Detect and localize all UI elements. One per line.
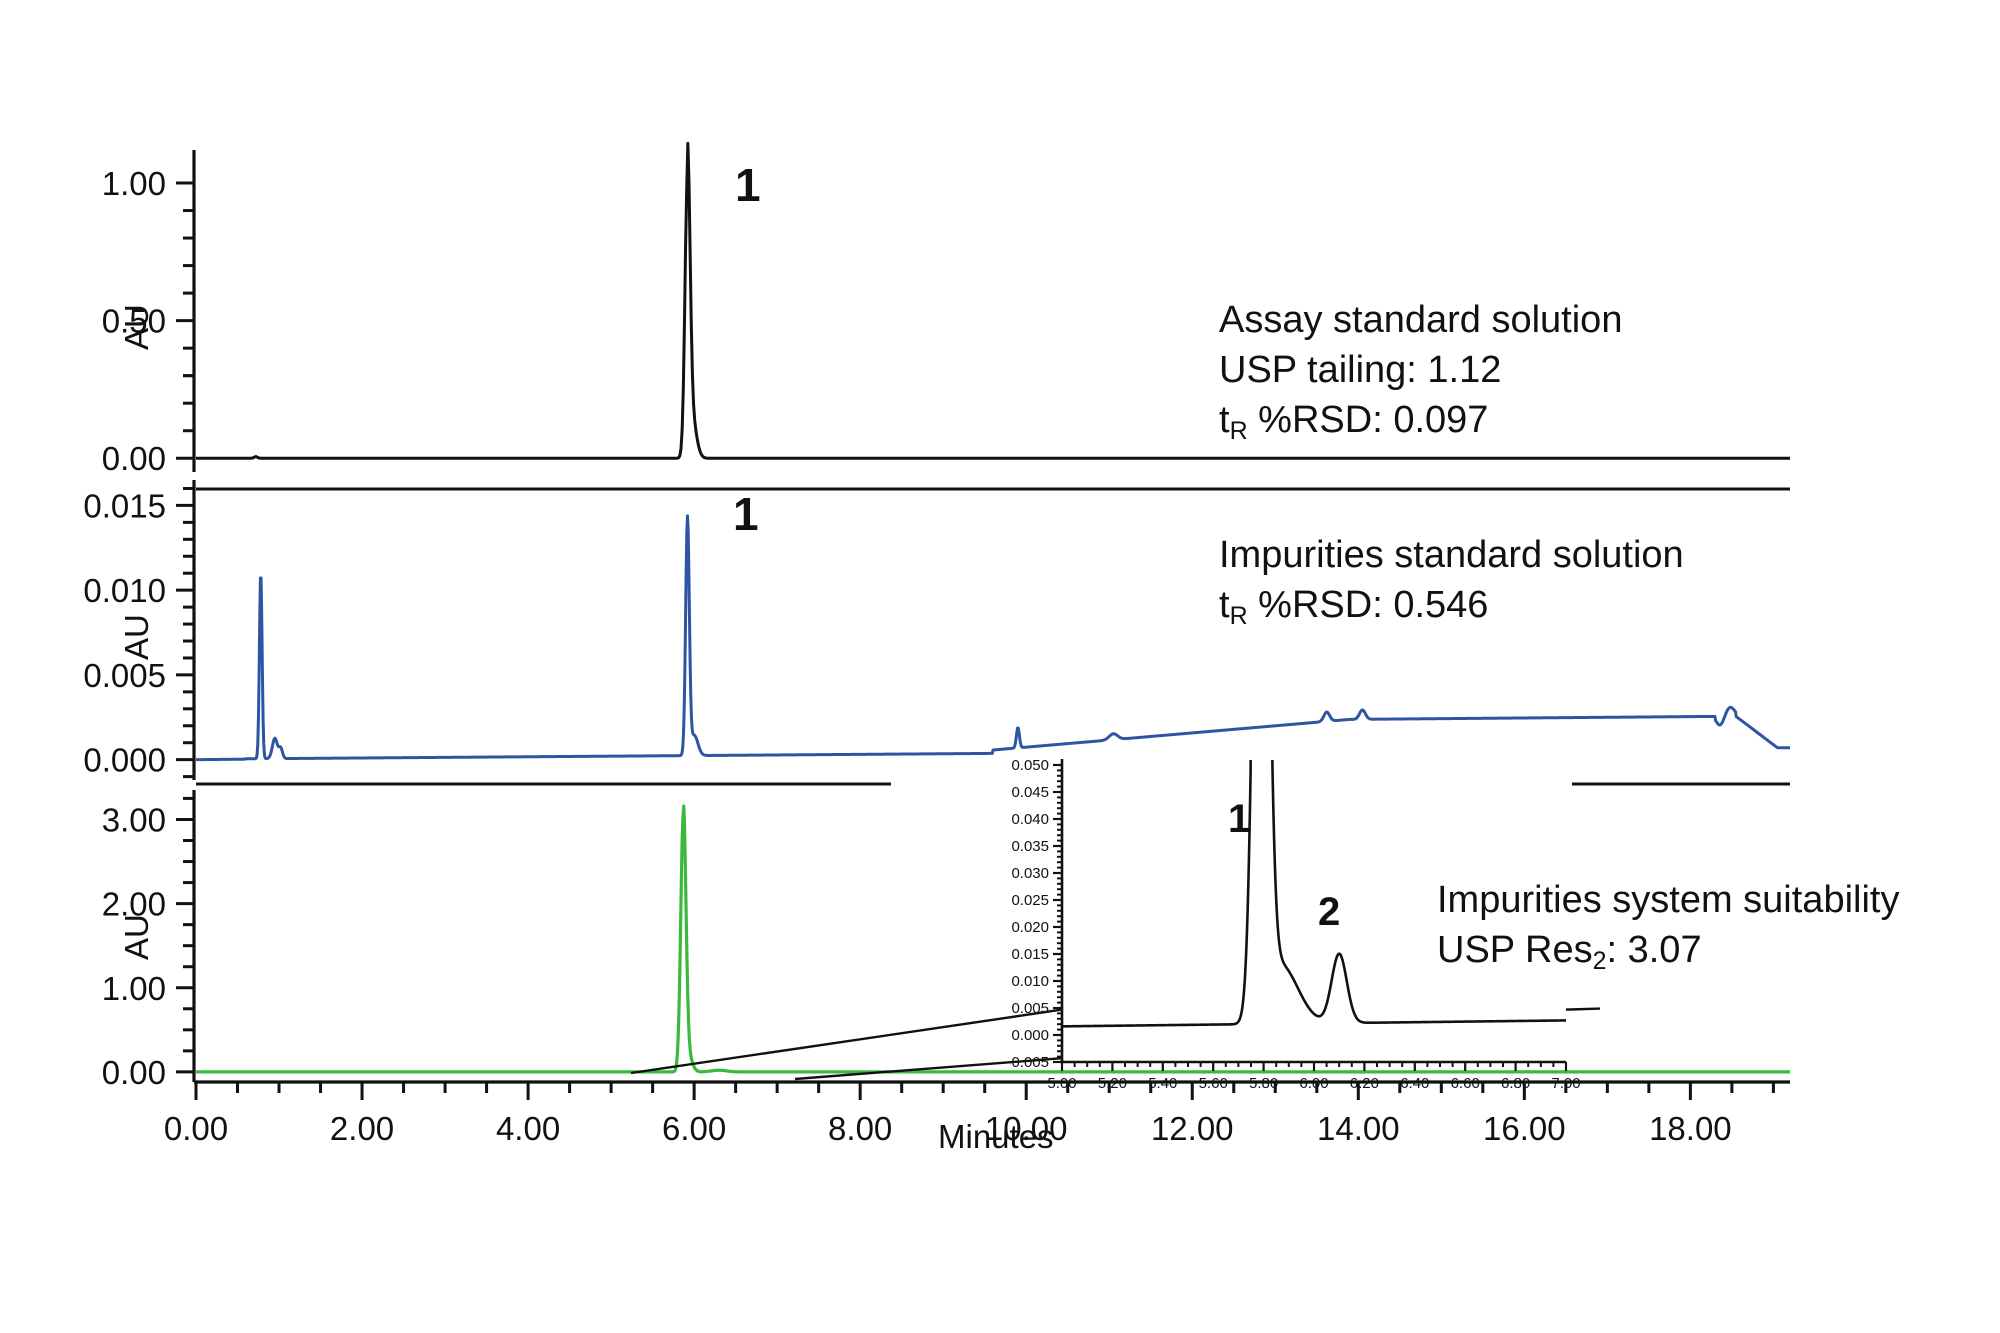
x-tick-label: 18.00 xyxy=(1649,1110,1732,1147)
panel3-y-tick-label: 3.00 xyxy=(102,801,166,838)
panel1-peak-label-1: 1 xyxy=(735,158,761,212)
panel2-y-tick-label: 0.000 xyxy=(83,742,166,779)
panel3-y-tick-label: 0.00 xyxy=(102,1054,166,1091)
inset-y-tick-label: 0.015 xyxy=(1011,946,1049,963)
panel2-annotation-line-2: tR %RSD: 0.546 xyxy=(1219,580,1488,641)
panel3-res-post: : 3.07 xyxy=(1607,929,1702,971)
panel3-y-tick-label: 1.00 xyxy=(102,970,166,1007)
panel1-annotation-line-1: Assay standard solution xyxy=(1219,295,1622,345)
panel1-y-tick-label: 1.00 xyxy=(102,165,166,202)
panel1-tr-post: %RSD: 0.097 xyxy=(1248,399,1489,441)
panel1-y-axis-label: AU xyxy=(118,304,156,350)
inset-x-tick-label: 5.40 xyxy=(1148,1075,1177,1092)
panel2-peak-label-1: 1 xyxy=(733,487,759,541)
panel2-y-tick-label: 0.010 xyxy=(83,572,166,609)
panel2-annotation-line-1: Impurities standard solution xyxy=(1219,530,1684,580)
panel2-tr-sub: R xyxy=(1230,602,1248,630)
inset-y-tick-label: 0.025 xyxy=(1011,892,1049,909)
x-tick-label: 12.00 xyxy=(1151,1110,1234,1147)
panel3-res-pre: USP Res xyxy=(1437,929,1593,971)
x-tick-label: 14.00 xyxy=(1317,1110,1400,1147)
panel1-tr-pre: t xyxy=(1219,399,1230,441)
x-tick-label: 6.00 xyxy=(662,1110,726,1147)
inset-y-tick-label: 0.020 xyxy=(1011,919,1049,936)
x-axis-label: Minutes xyxy=(938,1118,1054,1156)
x-tick-label: 16.00 xyxy=(1483,1110,1566,1147)
panel3-annotation-line-1: Impurities system suitability xyxy=(1437,875,1899,925)
panel3-y-axis-label: AU xyxy=(118,914,156,960)
inset-x-tick-label: 5.00 xyxy=(1047,1075,1076,1092)
chromatogram-figure: 0.000.501.000.0000.0050.0100.0150.001.00… xyxy=(0,0,2000,1333)
inset-x-tick-label: 6.60 xyxy=(1451,1075,1480,1092)
inset-y-tick-label: -0.005 xyxy=(1006,1054,1049,1071)
panel2-y-tick-label: 0.015 xyxy=(83,487,166,524)
x-tick-label: 2.00 xyxy=(330,1110,394,1147)
inset-x-tick-label: 5.80 xyxy=(1249,1075,1278,1092)
panel3-res-sub: 2 xyxy=(1593,947,1607,975)
inset-y-tick-label: 0.010 xyxy=(1011,973,1049,990)
inset-y-tick-label: 0.005 xyxy=(1011,1000,1049,1017)
inset-y-tick-label: 0.000 xyxy=(1011,1027,1049,1044)
inset-peak-label-1: 1 xyxy=(1228,797,1250,842)
inset-x-tick-label: 7.00 xyxy=(1551,1075,1580,1092)
inset-x-tick-label: 6.80 xyxy=(1501,1075,1530,1092)
x-tick-label: 8.00 xyxy=(828,1110,892,1147)
inset-x-tick-label: 6.20 xyxy=(1350,1075,1379,1092)
inset-y-tick-label: 0.045 xyxy=(1011,784,1049,801)
panel1-annotation-line-2: USP tailing: 1.12 xyxy=(1219,345,1501,395)
inset-x-tick-label: 5.60 xyxy=(1199,1075,1228,1092)
panel3-annotation-line-2: USP Res2: 3.07 xyxy=(1437,925,1702,986)
panel2-tr-pre: t xyxy=(1219,584,1230,626)
panel2-y-axis-label: AU xyxy=(118,614,156,660)
inset-x-tick-label: 6.00 xyxy=(1299,1075,1328,1092)
panel1-tr-sub: R xyxy=(1230,417,1248,445)
inset-leader-line-top-right xyxy=(1566,1009,1600,1010)
inset-y-tick-label: 0.040 xyxy=(1011,811,1049,828)
inset-peak-label-2: 2 xyxy=(1318,890,1340,935)
x-tick-label: 4.00 xyxy=(496,1110,560,1147)
inset-y-tick-label: 0.030 xyxy=(1011,865,1049,882)
panel1-y-tick-label: 0.00 xyxy=(102,440,166,477)
panel2-y-tick-label: 0.005 xyxy=(83,657,166,694)
inset-y-tick-label: 0.050 xyxy=(1011,757,1049,774)
panel1-annotation-line-3: tR %RSD: 0.097 xyxy=(1219,395,1488,456)
inset-x-tick-label: 6.40 xyxy=(1400,1075,1429,1092)
x-tick-label: 0.00 xyxy=(164,1110,228,1147)
panel2-tr-post: %RSD: 0.546 xyxy=(1248,584,1489,626)
inset-x-tick-label: 5.20 xyxy=(1098,1075,1127,1092)
inset-y-tick-label: 0.035 xyxy=(1011,838,1049,855)
